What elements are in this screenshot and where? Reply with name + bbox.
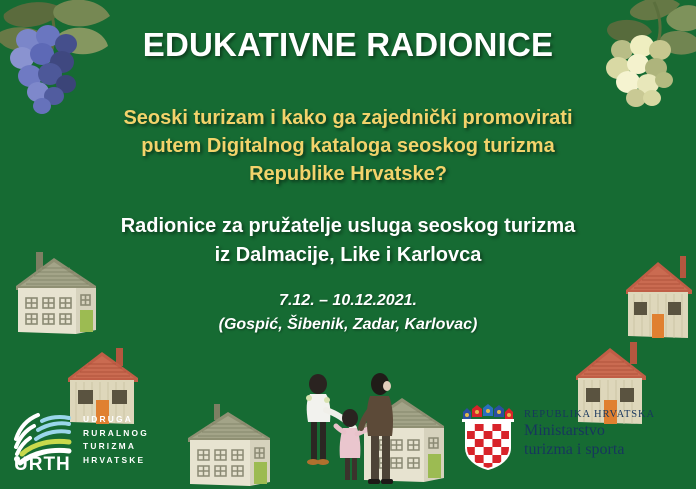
question-text: Seoski turizam i kako ga zajednički prom… [0, 104, 696, 188]
question-line-1: Seoski turizam i kako ga zajednički prom… [0, 104, 696, 132]
ministry-logo: REPUBLIKA HRVATSKA Ministarstvo turizma … [462, 404, 655, 470]
house-cream-center-icon [178, 404, 278, 489]
ministry-wordmark: REPUBLIKA HRVATSKA Ministarstvo turizma … [524, 408, 655, 459]
republic-line: REPUBLIKA HRVATSKA [524, 408, 655, 421]
urth-word-4: HRVATSKE [83, 454, 149, 468]
question-line-3: Republike Hrvatske? [0, 160, 696, 188]
family-figures-icon [296, 370, 404, 488]
croatian-coat-of-arms-icon [462, 404, 514, 470]
ministry-line-2: turizma i sporta [524, 440, 655, 459]
subtitle-line-2: iz Dalmacije, Like i Karlovca [0, 241, 696, 270]
question-line-2: putem Digitalnog kataloga seoskog turizm… [0, 132, 696, 160]
ministry-line-1: Ministarstvo [524, 421, 655, 440]
urth-word-1: UDRUGA [83, 413, 149, 427]
urth-mark-text: URTH [14, 454, 71, 471]
dates-line-1: 7.12. – 10.12.2021. [0, 289, 696, 313]
subtitle-text: Radionice za pružatelje usluga seoskog t… [0, 212, 696, 270]
urth-wordmark: UDRUGA RURALNOG TURIZMA HRVATSKE [83, 413, 149, 467]
page-title: EDUKATIVNE RADIONICE [0, 26, 696, 64]
urth-logo: URTH UDRUGA RURALNOG TURIZMA HRVATSKE [12, 409, 149, 471]
urth-word-3: TURIZMA [83, 440, 149, 454]
urth-mark-icon: URTH [12, 409, 72, 471]
urth-word-2: RURALNOG [83, 427, 149, 441]
subtitle-line-1: Radionice za pružatelje usluga seoskog t… [0, 212, 696, 241]
dates-text: 7.12. – 10.12.2021. (Gospić, Šibenik, Za… [0, 289, 696, 337]
dates-line-2: (Gospić, Šibenik, Zadar, Karlovac) [0, 313, 696, 337]
poster-canvas: EDUKATIVNE RADIONICE Seoski turizam i ka… [0, 0, 696, 489]
